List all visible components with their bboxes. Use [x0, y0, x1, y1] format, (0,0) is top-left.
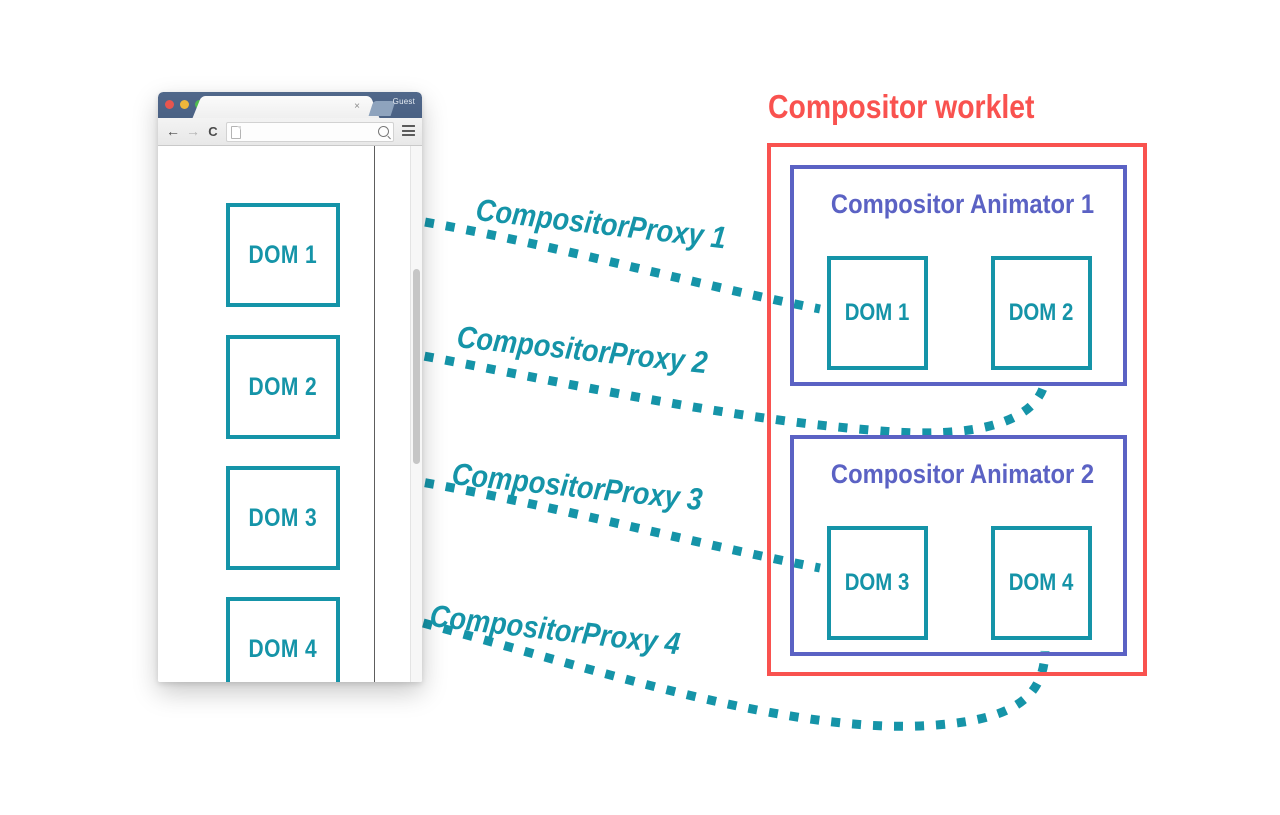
animator-2-dom-box-4: DOM 4 — [991, 526, 1092, 640]
browser-tab[interactable]: × — [206, 96, 366, 118]
animator-1-dom-box-2: DOM 2 — [991, 256, 1092, 370]
back-icon[interactable]: ← — [165, 123, 181, 140]
compositor-animator-1-title: Compositor Animator 1 — [814, 189, 1111, 220]
browser-window: × Guest ← → C DOM 1 DOM 2 — [158, 92, 422, 682]
compositor-worklet-title: Compositor worklet — [768, 88, 1034, 126]
page-dom-box-4-label: DOM 4 — [249, 635, 318, 664]
new-tab-button[interactable] — [369, 101, 396, 116]
search-icon[interactable] — [378, 126, 389, 137]
compositor-animator-2-box: Compositor Animator 2 DOM 3 DOM 4 — [790, 435, 1127, 656]
animator-2-dom-box-3: DOM 3 — [827, 526, 928, 640]
address-bar[interactable] — [226, 122, 394, 142]
reload-icon[interactable]: C — [205, 123, 221, 140]
animator-1-dom-box-2-label: DOM 2 — [1009, 299, 1074, 327]
diagram-canvas: × Guest ← → C DOM 1 DOM 2 — [0, 0, 1280, 815]
browser-titlebar: × Guest — [158, 92, 422, 118]
forward-icon[interactable]: → — [185, 123, 201, 140]
tab-close-icon[interactable]: × — [354, 99, 360, 115]
content-divider — [374, 146, 375, 682]
guest-profile-label[interactable]: Guest — [393, 97, 415, 106]
page-dom-box-2-label: DOM 2 — [249, 373, 318, 402]
compositor-animator-2-title: Compositor Animator 2 — [814, 459, 1111, 490]
compositor-proxy-4-label: CompositorProxy 4 — [428, 598, 682, 662]
animator-2-dom-box-3-label: DOM 3 — [845, 569, 910, 597]
vertical-scrollbar[interactable] — [410, 146, 422, 682]
compositor-proxy-2-label: CompositorProxy 2 — [455, 319, 709, 381]
page-dom-box-4: DOM 4 — [226, 597, 340, 682]
scrollbar-thumb[interactable] — [413, 269, 420, 464]
page-dom-box-1: DOM 1 — [226, 203, 340, 307]
page-dom-box-3: DOM 3 — [226, 466, 340, 570]
animator-1-dom-box-1-label: DOM 1 — [845, 299, 910, 327]
compositor-proxy-1-label: CompositorProxy 1 — [474, 192, 728, 256]
minimize-window-button[interactable] — [180, 100, 189, 109]
animator-1-dom-box-1: DOM 1 — [827, 256, 928, 370]
browser-toolbar: ← → C — [158, 118, 422, 146]
page-document-icon — [231, 126, 241, 139]
compositor-proxy-3-label: CompositorProxy 3 — [450, 456, 704, 518]
animator-2-dom-box-4-label: DOM 4 — [1009, 569, 1074, 597]
browser-viewport: DOM 1 DOM 2 DOM 3 DOM 4 — [158, 146, 422, 682]
close-window-button[interactable] — [165, 100, 174, 109]
page-dom-box-3-label: DOM 3 — [249, 504, 318, 533]
compositor-animator-1-box: Compositor Animator 1 DOM 1 DOM 2 — [790, 165, 1127, 386]
page-dom-box-1-label: DOM 1 — [249, 241, 318, 270]
hamburger-menu-icon[interactable] — [402, 125, 415, 136]
page-dom-box-2: DOM 2 — [226, 335, 340, 439]
